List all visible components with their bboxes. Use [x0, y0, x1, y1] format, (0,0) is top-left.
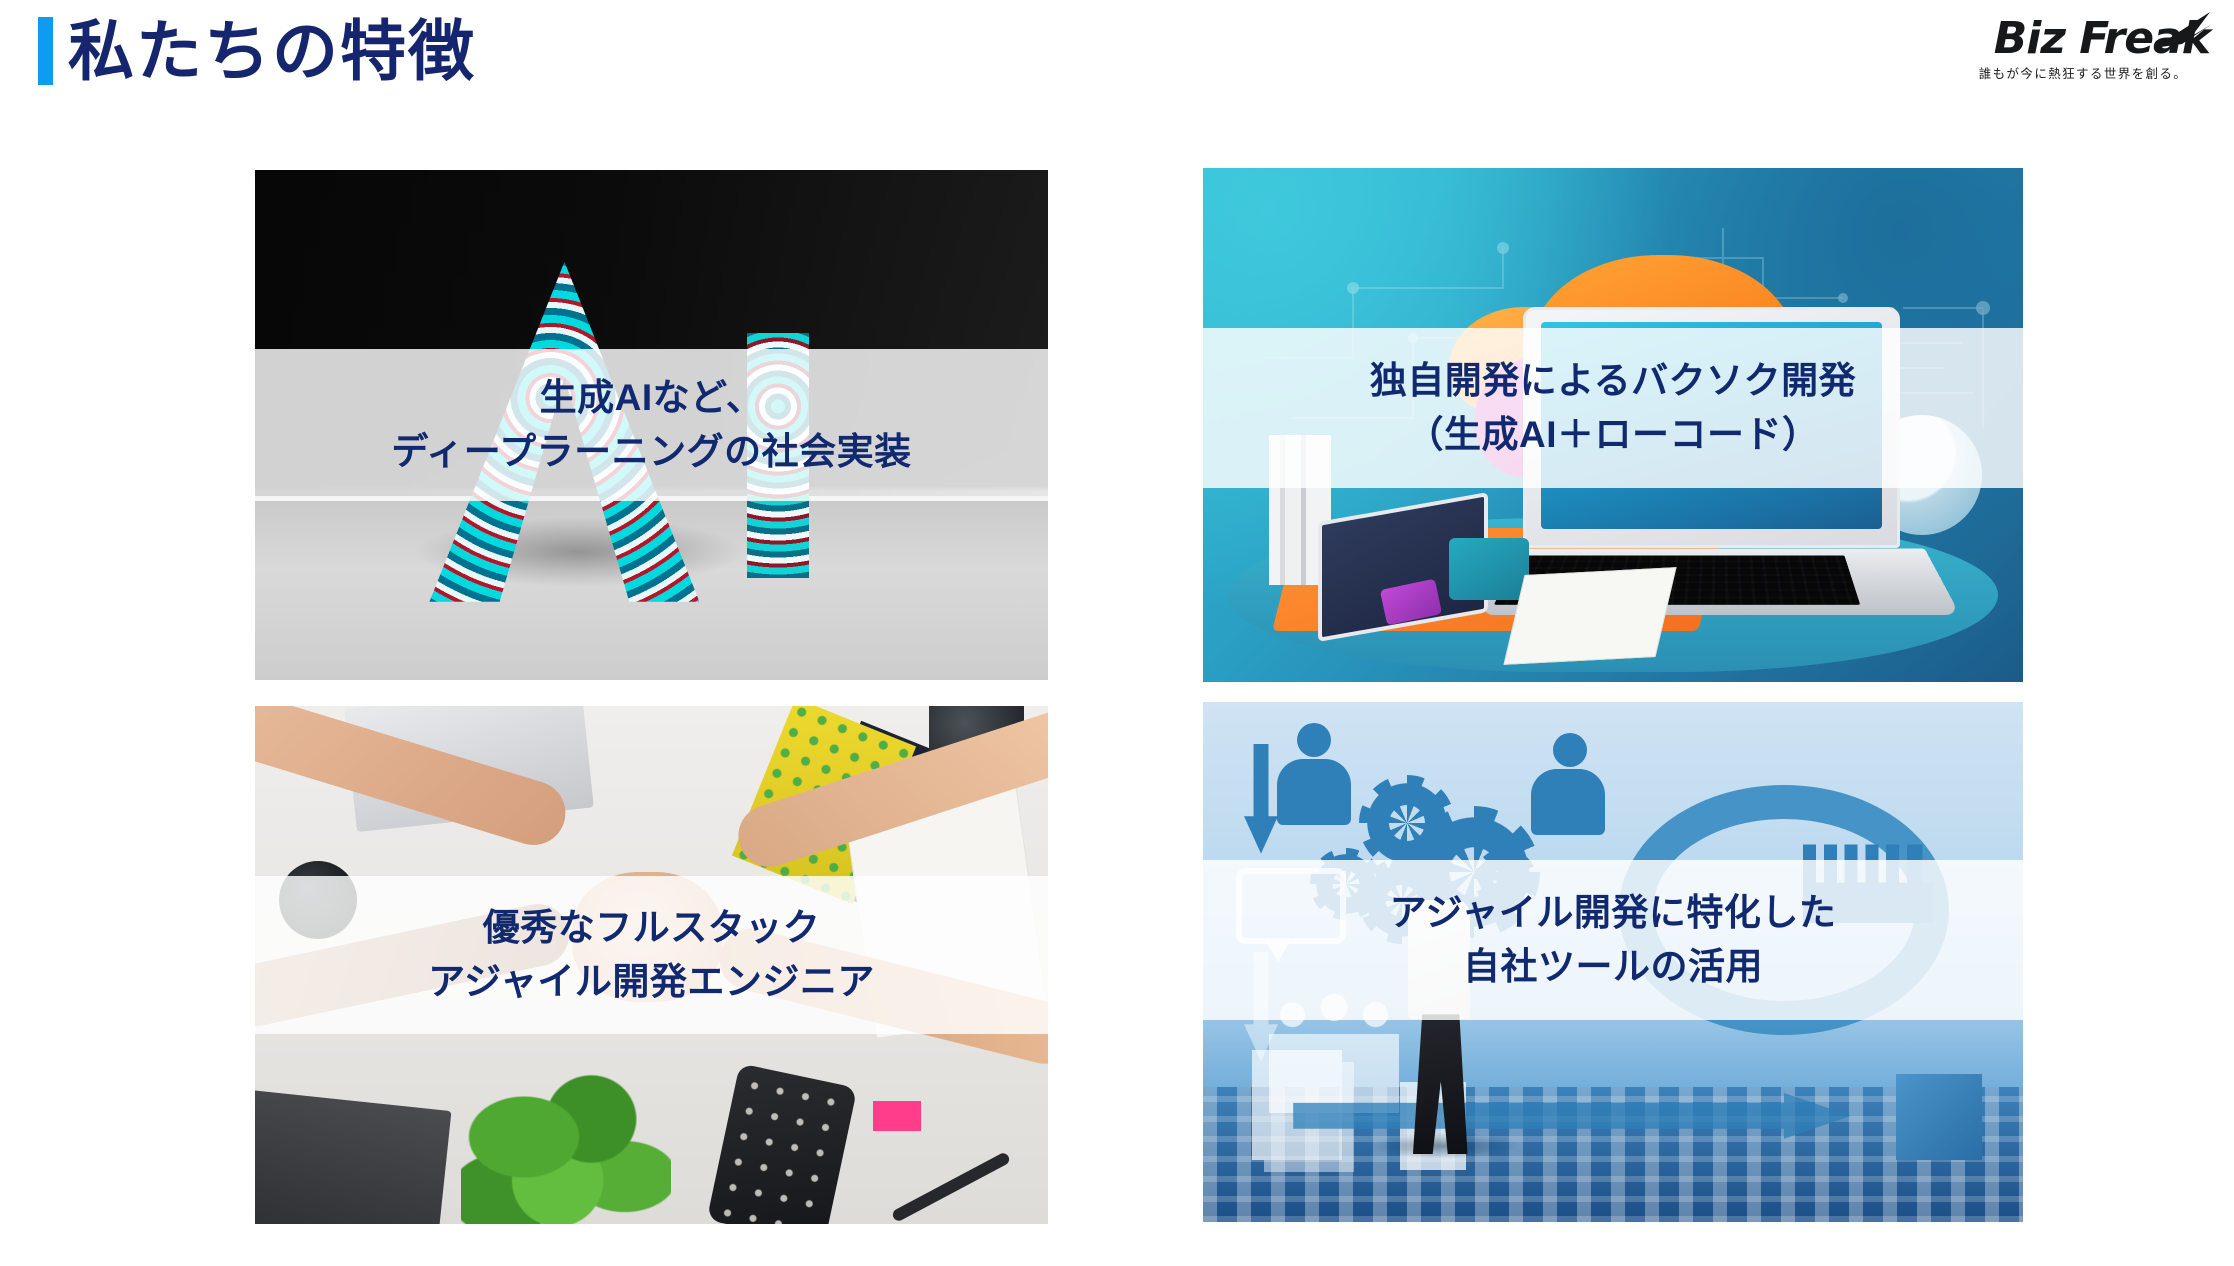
title-accent-bar: [38, 17, 53, 85]
slide-root: 私たちの特徴 Biz Freak 誰もが今に熱狂する世界を創る。 生成AIなど、…: [0, 0, 2234, 1266]
feature-card-agile-tools[interactable]: アジャイル開発に特化した 自社ツールの活用: [1203, 702, 2023, 1222]
person-icon: [1531, 733, 1609, 851]
page-title: 私たちの特徴: [68, 6, 476, 96]
logo-tagline: 誰もが今に熱狂する世界を創る。: [1960, 65, 2210, 83]
feature-card-ai[interactable]: 生成AIなど、 ディープラーニングの社会実装: [255, 170, 1048, 680]
caption-line-2: ディープラーニングの社会実装: [391, 425, 911, 479]
caption-line-1: 生成AIなど、: [540, 371, 764, 425]
card-caption: 優秀なフルスタック アジャイル開発エンジニア: [255, 876, 1048, 1034]
caption-line-2: 自社ツールの活用: [1463, 940, 1763, 994]
logo-mark: Biz Freak: [1960, 14, 2210, 64]
feature-card-engineers[interactable]: 優秀なフルスタック アジャイル開発エンジニア: [255, 706, 1048, 1224]
caption-line-2: （生成AI＋ローコード）: [1407, 408, 1820, 462]
caption-line-1: 独自開発によるバクソク開発: [1370, 354, 1856, 408]
feature-card-rapid-dev[interactable]: 独自開発によるバクソク開発 （生成AI＋ローコード）: [1203, 168, 2023, 682]
card-caption: 独自開発によるバクソク開発 （生成AI＋ローコード）: [1203, 328, 2023, 488]
brand-logo: Biz Freak 誰もが今に熱狂する世界を創る。: [1960, 14, 2210, 92]
card-caption: 生成AIなど、 ディープラーニングの社会実装: [255, 349, 1048, 501]
caption-line-1: アジャイル開発に特化した: [1390, 886, 1837, 940]
swoosh-icon: [2152, 10, 2214, 50]
caption-line-2: アジャイル開発エンジニア: [428, 955, 875, 1009]
person-icon: [1277, 723, 1351, 833]
slide-header: 私たちの特徴: [0, 0, 2234, 110]
caption-line-1: 優秀なフルスタック: [483, 901, 821, 955]
card-caption: アジャイル開発に特化した 自社ツールの活用: [1203, 860, 2023, 1020]
